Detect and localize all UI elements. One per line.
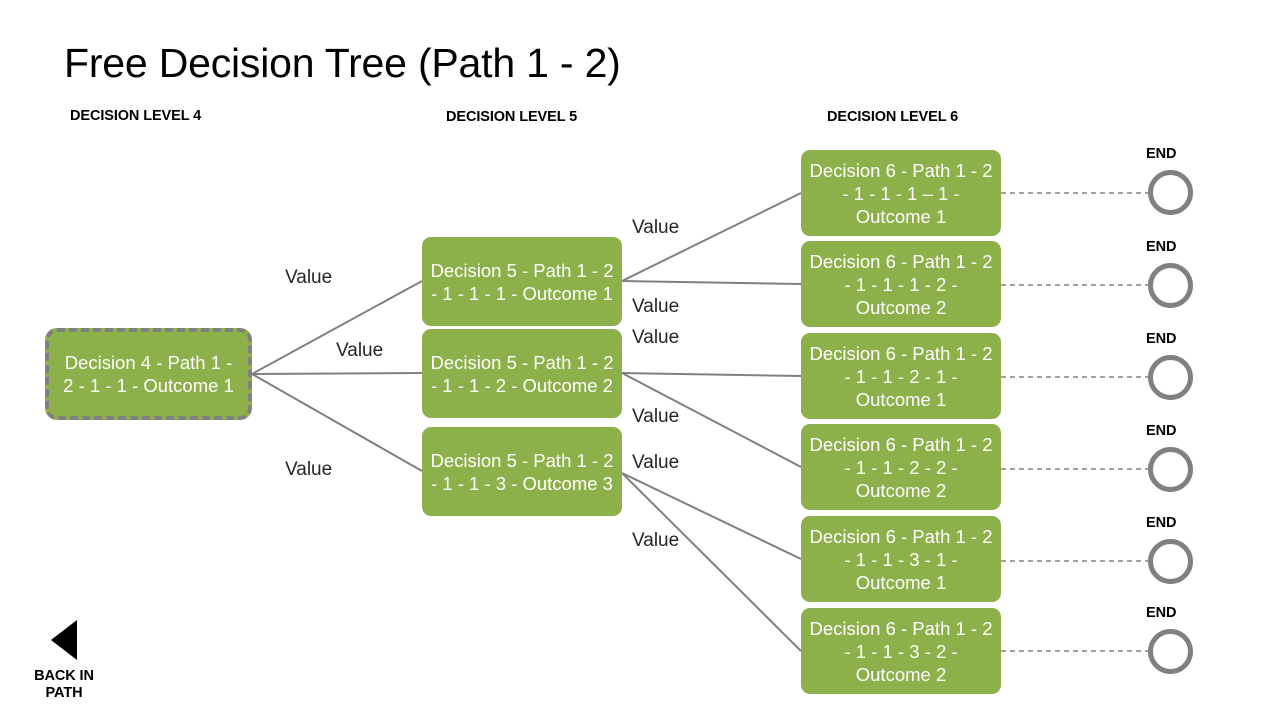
branch-connector <box>252 373 422 374</box>
edge-value-label: Value <box>632 217 679 239</box>
node-decision-6-path-1-2-1-1-1-2-outcome-2[interactable]: Decision 6 - Path 1 - 2 - 1 - 1 - 1 - 2 … <box>801 241 1001 327</box>
node-decision-5-path-1-2-1-1-2-outcome-2[interactable]: Decision 5 - Path 1 - 2 - 1 - 1 - 2 - Ou… <box>422 329 622 418</box>
edge-value-label: Value <box>632 406 679 428</box>
node-decision-4-path-1-2-1-1-outcome-1[interactable]: Decision 4 - Path 1 - 2 - 1 - 1 - Outcom… <box>45 328 252 420</box>
end-label: END <box>1146 331 1176 347</box>
node-decision-6-path-1-2-1-1-1-1-outcome-1[interactable]: Decision 6 - Path 1 - 2 - 1 - 1 - 1 – 1 … <box>801 150 1001 236</box>
edge-value-label: Value <box>632 296 679 318</box>
node-decision-5-path-1-2-1-1-1-outcome-1[interactable]: Decision 5 - Path 1 - 2 - 1 - 1 - 1 - Ou… <box>422 237 622 326</box>
node-decision-6-path-1-2-1-1-3-2-outcome-2[interactable]: Decision 6 - Path 1 - 2 - 1 - 1 - 3 - 2 … <box>801 608 1001 694</box>
back-in-path-label: BACK IN PATH <box>16 668 112 702</box>
decision-tree-canvas: Free Decision Tree (Path 1 - 2) DECISION… <box>0 0 1280 720</box>
end-label: END <box>1146 146 1176 162</box>
branch-connector <box>622 373 801 376</box>
branch-connector <box>252 374 422 471</box>
edge-value-label: Value <box>285 267 332 289</box>
node-label: Decision 6 - Path 1 - 2 - 1 - 1 - 2 - 2 … <box>809 433 993 502</box>
node-label: Decision 4 - Path 1 - 2 - 1 - 1 - Outcom… <box>57 351 240 397</box>
node-decision-5-path-1-2-1-1-3-outcome-3[interactable]: Decision 5 - Path 1 - 2 - 1 - 1 - 3 - Ou… <box>422 427 622 516</box>
end-circle-icon[interactable] <box>1148 170 1193 215</box>
back-in-path-button[interactable]: BACK IN PATH <box>16 620 112 702</box>
node-label: Decision 6 - Path 1 - 2 - 1 - 1 - 3 - 1 … <box>809 525 993 594</box>
node-label: Decision 5 - Path 1 - 2 - 1 - 1 - 3 - Ou… <box>430 449 614 495</box>
end-circle-icon[interactable] <box>1148 263 1193 308</box>
node-decision-6-path-1-2-1-1-2-1-outcome-1[interactable]: Decision 6 - Path 1 - 2 - 1 - 1 - 2 - 1 … <box>801 333 1001 419</box>
branch-connector <box>622 281 801 284</box>
node-label: Decision 6 - Path 1 - 2 - 1 - 1 - 3 - 2 … <box>809 617 993 686</box>
end-label: END <box>1146 423 1176 439</box>
node-label: Decision 6 - Path 1 - 2 - 1 - 1 - 1 – 1 … <box>809 159 993 228</box>
node-label: Decision 5 - Path 1 - 2 - 1 - 1 - 2 - Ou… <box>430 351 614 397</box>
end-label: END <box>1146 605 1176 621</box>
node-decision-6-path-1-2-1-1-2-2-outcome-2[interactable]: Decision 6 - Path 1 - 2 - 1 - 1 - 2 - 2 … <box>801 424 1001 510</box>
node-label: Decision 6 - Path 1 - 2 - 1 - 1 - 1 - 2 … <box>809 250 993 319</box>
edge-value-label: Value <box>632 452 679 474</box>
end-label: END <box>1146 239 1176 255</box>
end-circle-icon[interactable] <box>1148 539 1193 584</box>
edge-value-label: Value <box>285 459 332 481</box>
edge-value-label: Value <box>336 340 383 362</box>
node-label: Decision 5 - Path 1 - 2 - 1 - 1 - 1 - Ou… <box>430 259 614 305</box>
end-circle-icon[interactable] <box>1148 447 1193 492</box>
branch-connector <box>622 473 801 651</box>
node-label: Decision 6 - Path 1 - 2 - 1 - 1 - 2 - 1 … <box>809 342 993 411</box>
triangle-left-icon <box>51 620 77 660</box>
node-decision-6-path-1-2-1-1-3-1-outcome-1[interactable]: Decision 6 - Path 1 - 2 - 1 - 1 - 3 - 1 … <box>801 516 1001 602</box>
edge-value-label: Value <box>632 530 679 552</box>
edge-value-label: Value <box>632 327 679 349</box>
end-circle-icon[interactable] <box>1148 355 1193 400</box>
end-circle-icon[interactable] <box>1148 629 1193 674</box>
end-label: END <box>1146 515 1176 531</box>
